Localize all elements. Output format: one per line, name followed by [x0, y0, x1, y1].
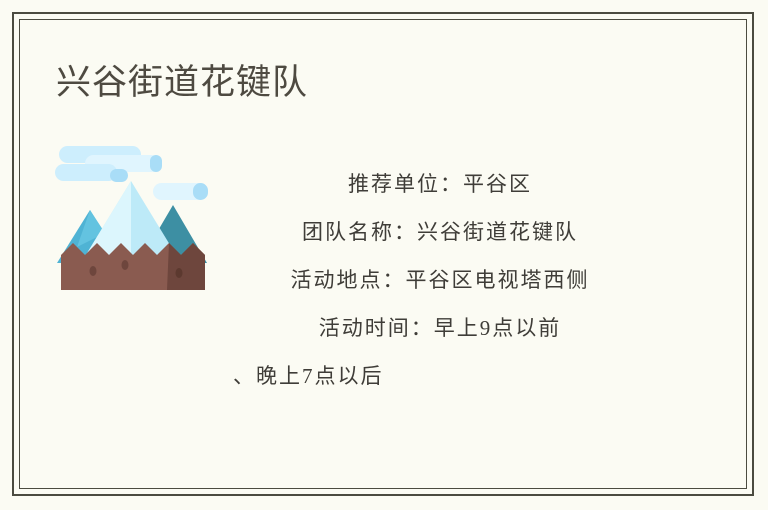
cloud-shadow-right — [150, 155, 162, 172]
cloud-shadow-lower-right — [193, 183, 208, 200]
info-line-recommending-unit: 推荐单位：平谷区 — [215, 160, 665, 208]
info-line-activity-time: 活动时间：早上9点以前 — [215, 304, 665, 352]
rock-dot-1 — [90, 266, 97, 276]
info-line-team-name: 团队名称：兴谷街道花键队 — [215, 208, 665, 256]
info-line-activity-location: 活动地点：平谷区电视塔西侧 — [215, 256, 665, 304]
cloud-shadow-small — [110, 169, 128, 182]
rock-dot-3 — [176, 268, 183, 278]
page-title: 兴谷街道花键队 — [56, 60, 308, 106]
cloud-bar-mid-left — [55, 164, 117, 181]
info-text-block: 推荐单位：平谷区 团队名称：兴谷街道花键队 活动地点：平谷区电视塔西侧 活动时间… — [215, 160, 665, 400]
info-card: 兴谷街道花键队 推荐单位：平谷区 — [0, 0, 768, 510]
rock-dot-2 — [122, 260, 129, 270]
rock-base-dark — [167, 243, 205, 290]
mountain-illustration — [55, 143, 211, 295]
info-line-activity-time-cont: 、晚上7点以后 — [215, 352, 665, 400]
